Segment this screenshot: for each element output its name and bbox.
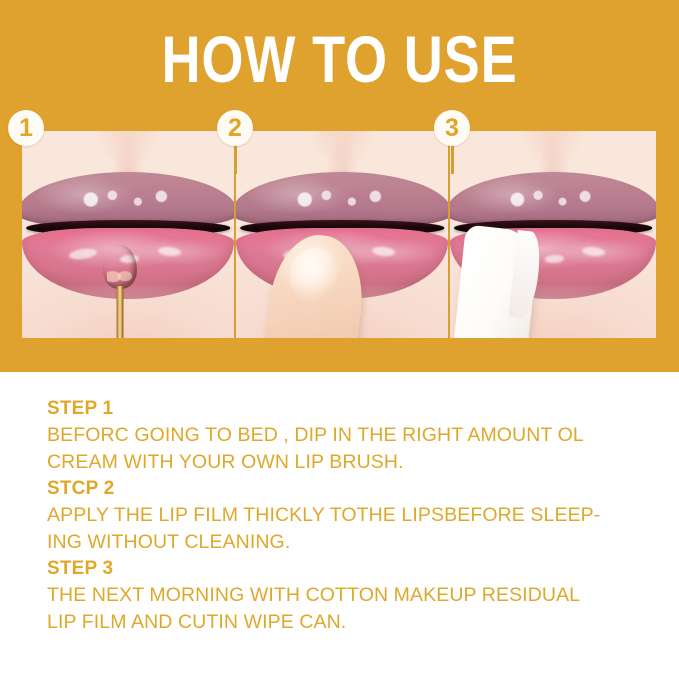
step-photo-2: [236, 131, 448, 338]
step-2-heading: STCP 2: [47, 476, 657, 502]
lip-sparkle: [508, 189, 603, 210]
step-1-body: BEFORC GOING TO BED , DIP IN THE RIGHT A…: [47, 422, 657, 476]
step-photo-1: [22, 131, 234, 338]
brush-handle: [116, 286, 123, 338]
step-3-heading: STEP 3: [47, 556, 657, 582]
instruction-step-2: STCP 2 APPLY THE LIP FILM THICKLY TOTHE …: [47, 476, 657, 556]
instruction-step-1: STEP 1 BEFORC GOING TO BED , DIP IN THE …: [47, 396, 657, 476]
step-photo-strip: [22, 131, 656, 338]
step-badge-1: 1: [8, 110, 44, 146]
lip-brush-applicator: [100, 245, 140, 338]
instructions-list: STEP 1 BEFORC GOING TO BED , DIP IN THE …: [47, 396, 657, 636]
step-badge-2: 2: [217, 110, 253, 146]
lip-sparkle: [81, 189, 179, 210]
step-badge-3: 3: [434, 110, 470, 146]
step-3-body: THE NEXT MORNING WITH COTTON MAKEUP RESI…: [47, 582, 657, 636]
page-title: HOW TO USE: [61, 26, 618, 92]
lip-sparkle: [295, 189, 393, 210]
how-to-use-infographic: HOW TO USE: [0, 0, 679, 679]
cotton-pad: [451, 225, 540, 338]
step-1-heading: STEP 1: [47, 396, 657, 422]
step-2-body: APPLY THE LIP FILM THICKLY TOTHE LIPSBEF…: [47, 502, 657, 556]
instruction-step-3: STEP 3 THE NEXT MORNING WITH COTTON MAKE…: [47, 556, 657, 636]
brush-head-icon: [103, 245, 137, 289]
step-photo-3: [450, 131, 656, 338]
